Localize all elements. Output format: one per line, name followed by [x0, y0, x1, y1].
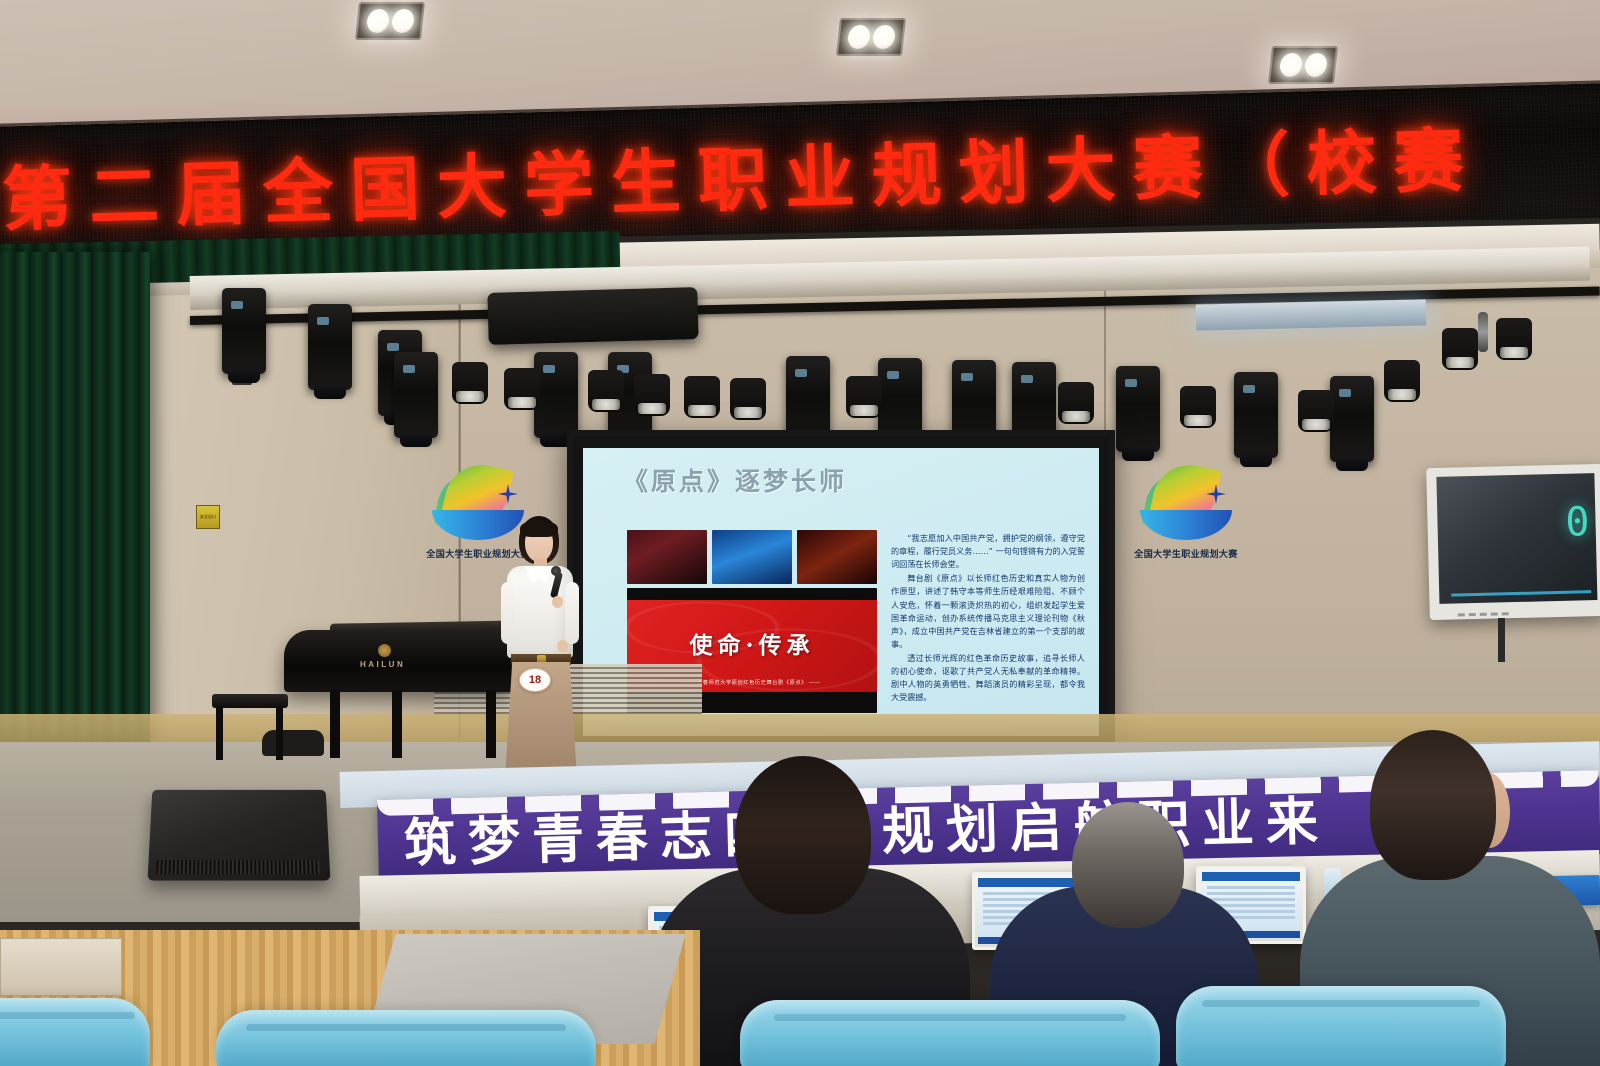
par-can-light — [684, 376, 720, 418]
par-can-light — [1442, 328, 1478, 370]
laptop-screen-header — [978, 878, 1076, 887]
piano-brand-label: HAILUN — [360, 660, 405, 669]
audience-member-head — [735, 756, 871, 914]
hanging-microphone — [1478, 312, 1488, 352]
competition-logo-right: 全国大学生职业规划大赛 — [1128, 462, 1244, 560]
exit-sign: 安全出口 — [196, 505, 220, 529]
batten-light-bar — [1196, 299, 1427, 330]
audience-seat[interactable] — [0, 998, 150, 1066]
piano-leg — [392, 690, 402, 758]
bottle-cap — [1292, 858, 1304, 867]
moving-head-light — [1116, 366, 1160, 452]
par-can-light — [1180, 386, 1216, 428]
wall-access-panel — [0, 938, 122, 996]
par-can-light — [1496, 318, 1532, 360]
presenter-fringe — [520, 520, 558, 537]
moving-head-light — [222, 288, 266, 374]
presenter-contestant: 18 — [495, 516, 587, 778]
monitor-mount-arm — [1498, 618, 1505, 662]
monitor-progress-bar — [1451, 590, 1591, 596]
slide-photo-3 — [797, 530, 877, 584]
par-can-light — [1384, 360, 1420, 402]
slide-photo-1 — [627, 530, 707, 584]
slide-paragraph: 透过长师光辉的红色革命历史故事，追寻长师人的初心使命，讴歌了共产党人无私奉献的革… — [891, 652, 1085, 704]
ceiling-projector — [487, 287, 698, 345]
competition-logo-caption: 全国大学生职业规划大赛 — [1128, 547, 1244, 560]
par-can-light — [588, 370, 624, 412]
stage-photograph: 第二届全国大学生职业规划大赛（校赛 安全出口 — [0, 0, 1600, 1066]
audience-seat[interactable] — [1176, 986, 1506, 1066]
par-can-light — [730, 378, 766, 420]
ceiling-downlight — [355, 2, 425, 40]
judge-head — [1072, 802, 1184, 928]
par-can-light — [1298, 390, 1334, 432]
slide-body-text: “我志愿加入中国共产党，拥护党的纲领，遵守党的章程，履行党员义务……” 一句句铿… — [891, 532, 1085, 705]
moving-head-light — [308, 304, 352, 390]
slide-photo-strip — [627, 530, 877, 584]
slide-title: 《原点》逐梦长师 — [623, 462, 847, 498]
bench-leg — [276, 706, 283, 760]
slide-paragraph: 舞台剧《原点》以长师红色历史和真实人物为创作原型，讲述了韩守本等师生历经艰难险阻… — [891, 572, 1085, 651]
par-can-light — [1058, 382, 1094, 424]
piano-leg — [330, 690, 340, 758]
stage-monitor-speaker — [148, 790, 331, 881]
par-can-light — [504, 368, 540, 410]
wall-mounted-monitor[interactable]: 0 — [1426, 464, 1600, 620]
presenter-hand — [552, 596, 563, 608]
laptop-screen-header — [1202, 872, 1300, 881]
par-can-light — [846, 376, 882, 418]
audience-seat[interactable] — [740, 1000, 1160, 1066]
poster-calligraphy-title: 使命·传承 — [627, 626, 877, 660]
slide-paragraph: “我志愿加入中国共产党，拥护党的纲领，遵守党的章程，履行党员义务……” 一句句铿… — [891, 532, 1085, 571]
audience-seat[interactable] — [216, 1010, 596, 1066]
sail-wave-logo-icon — [1138, 462, 1234, 546]
ceiling-downlight — [1268, 46, 1338, 84]
moving-head-light — [534, 352, 578, 438]
piano-medallion-icon — [378, 644, 391, 657]
par-can-light — [452, 362, 488, 404]
par-can-light — [634, 374, 670, 416]
moving-head-light — [1330, 376, 1374, 462]
slide-photo-2 — [712, 530, 792, 584]
equipment-bag — [262, 730, 324, 756]
contestant-number-badge: 18 — [519, 668, 551, 692]
moving-head-light — [394, 352, 438, 438]
monitor-buttons[interactable] — [1458, 612, 1509, 616]
timer-digit: 0 — [1565, 499, 1590, 546]
bench-leg — [216, 706, 223, 760]
presenter-hand — [557, 640, 568, 652]
presenter-arm-left — [501, 582, 515, 644]
ceiling-downlight — [836, 18, 906, 56]
monitor-screen: 0 — [1436, 473, 1597, 604]
presenter-arm-right — [565, 582, 579, 644]
moving-head-light — [1234, 372, 1278, 458]
judge-head — [1370, 730, 1496, 880]
speaker-grille — [156, 860, 320, 874]
